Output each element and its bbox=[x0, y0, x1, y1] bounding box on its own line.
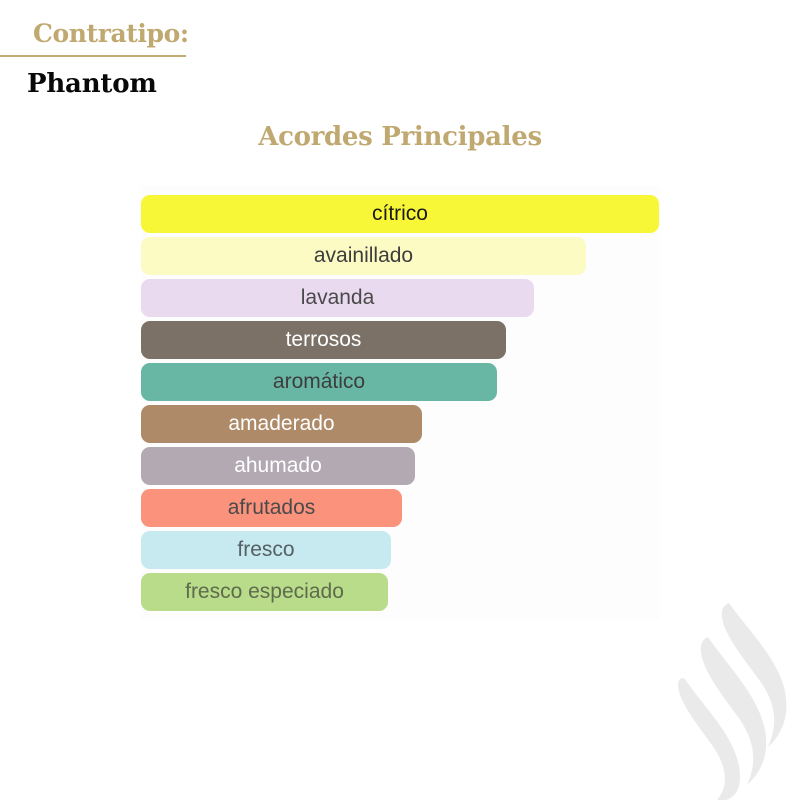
bar-label: cítrico bbox=[372, 203, 428, 225]
bar-label: amaderado bbox=[228, 413, 334, 435]
header-divider bbox=[0, 55, 186, 57]
bar-row: cítrico bbox=[141, 193, 701, 235]
bar-label: terrosos bbox=[286, 329, 362, 351]
bar-label: lavanda bbox=[301, 287, 375, 309]
bar-label: fresco bbox=[237, 539, 294, 561]
bar-rect: avainillado bbox=[141, 237, 586, 275]
bar-label: ahumado bbox=[234, 455, 322, 477]
bar-row: ahumado bbox=[141, 445, 701, 487]
bar-row: fresco bbox=[141, 529, 701, 571]
page-title: Phantom bbox=[27, 70, 157, 99]
bar-row: afrutados bbox=[141, 487, 701, 529]
bar-label: avainillado bbox=[314, 245, 413, 267]
bar-rect: cítrico bbox=[141, 195, 659, 233]
bar-row: aromático bbox=[141, 361, 701, 403]
bar-label: afrutados bbox=[228, 497, 316, 519]
bar-rect: terrosos bbox=[141, 321, 506, 359]
bar-label: aromático bbox=[273, 371, 365, 393]
bar-rect: ahumado bbox=[141, 447, 415, 485]
bar-row: amaderado bbox=[141, 403, 701, 445]
chart-title: Acordes Principales bbox=[0, 123, 800, 152]
bar-rect: afrutados bbox=[141, 489, 402, 527]
bar-chart: cítricoavainilladolavandaterrososaromáti… bbox=[141, 193, 701, 613]
bar-rect: fresco bbox=[141, 531, 391, 569]
bar-row: avainillado bbox=[141, 235, 701, 277]
contratipo-kicker: Contratipo: bbox=[33, 21, 189, 46]
bar-rect: fresco especiado bbox=[141, 573, 388, 611]
bar-row: fresco especiado bbox=[141, 571, 701, 613]
bar-row: terrosos bbox=[141, 319, 701, 361]
bar-rect: aromático bbox=[141, 363, 497, 401]
bar-row: lavanda bbox=[141, 277, 701, 319]
bar-rect: amaderado bbox=[141, 405, 422, 443]
bar-label: fresco especiado bbox=[185, 581, 344, 603]
bar-rect: lavanda bbox=[141, 279, 534, 317]
